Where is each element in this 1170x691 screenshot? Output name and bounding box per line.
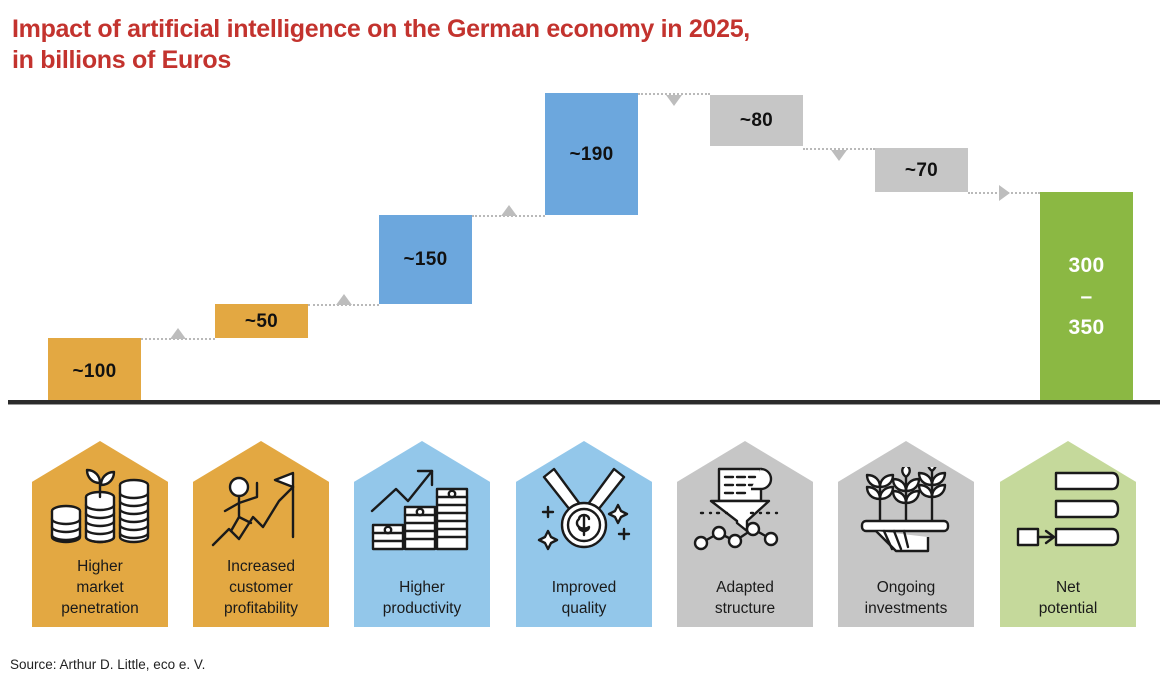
bar-value-line: 300 bbox=[1069, 250, 1105, 281]
medal-dollar-icon bbox=[516, 467, 652, 553]
category-label-line: penetration bbox=[32, 598, 168, 619]
bar-net-potential: 300–350 bbox=[1040, 192, 1133, 400]
category-label-line: potential bbox=[1000, 598, 1136, 619]
person-climbing-flag-icon bbox=[193, 467, 329, 553]
connector-6-right-triangle-icon bbox=[999, 185, 1010, 201]
category-label-line: profitability bbox=[193, 598, 329, 619]
bar-adapted-structure: ~80 bbox=[710, 95, 803, 146]
category-label: Highermarketpenetration bbox=[32, 556, 168, 619]
category-label-line: Ongoing bbox=[838, 577, 974, 598]
bar-value-label: ~70 bbox=[905, 158, 938, 183]
category-label-line: quality bbox=[516, 598, 652, 619]
category-label-line: Net bbox=[1000, 577, 1136, 598]
bar-higher-productivity: ~150 bbox=[379, 215, 472, 304]
category-label-line: Adapted bbox=[677, 577, 813, 598]
category-label: Improvedquality bbox=[516, 577, 652, 619]
category-label: Higherproductivity bbox=[354, 577, 490, 619]
category-improved-quality: Improvedquality bbox=[516, 441, 652, 627]
bar-value-label: ~80 bbox=[740, 108, 773, 133]
category-increased-customer-profitability: Increasedcustomerprofitability bbox=[193, 441, 329, 627]
category-label-line: structure bbox=[677, 598, 813, 619]
category-label: Ongoinginvestments bbox=[838, 577, 974, 619]
category-ongoing-investments: Ongoinginvestments bbox=[838, 441, 974, 627]
page-title: Impact of artificial intelligence on the… bbox=[12, 14, 772, 76]
category-label-line: Increased bbox=[193, 556, 329, 577]
category-label-line: customer bbox=[193, 577, 329, 598]
bar-value-label: ~150 bbox=[404, 247, 448, 272]
page-title-line1: Impact of artificial intelligence on the… bbox=[12, 15, 750, 43]
bar-value-label: ~190 bbox=[570, 142, 614, 167]
category-label: Increasedcustomerprofitability bbox=[193, 556, 329, 619]
category-label-line: market bbox=[32, 577, 168, 598]
category-label-line: Higher bbox=[354, 577, 490, 598]
growth-bars-arrow-icon bbox=[354, 467, 490, 553]
category-legend-row: Highermarketpenetration Increasedcustome… bbox=[0, 441, 1170, 631]
chart-baseline bbox=[8, 400, 1160, 405]
category-label: Netpotential bbox=[1000, 577, 1136, 619]
page-title-line2: in billions of Euros bbox=[12, 45, 772, 76]
bar-ongoing-investments: ~70 bbox=[875, 148, 968, 192]
category-label-line: investments bbox=[838, 598, 974, 619]
category-label-line: productivity bbox=[354, 598, 490, 619]
coin-stacks-sprout-icon bbox=[32, 467, 168, 553]
connector-5-down-triangle-icon bbox=[831, 150, 847, 161]
bar-value-label: ~100 bbox=[73, 359, 117, 384]
bar-value-label: ~50 bbox=[245, 309, 278, 334]
connector-3-up-triangle-icon bbox=[501, 205, 517, 216]
category-higher-market-penetration: Highermarketpenetration bbox=[32, 441, 168, 627]
category-adapted-structure: Adaptedstructure bbox=[677, 441, 813, 627]
connector-1-up-triangle-icon bbox=[170, 328, 186, 339]
category-label: Adaptedstructure bbox=[677, 577, 813, 619]
connector-4-down-triangle-icon bbox=[666, 95, 682, 106]
bar-value-label: 300–350 bbox=[1069, 250, 1105, 343]
bar-improved-quality: ~190 bbox=[545, 93, 638, 215]
category-label-line: Improved bbox=[516, 577, 652, 598]
funnel-document-network-icon bbox=[677, 467, 813, 553]
category-net-potential: Netpotential bbox=[1000, 441, 1136, 627]
category-label-line: Higher bbox=[32, 556, 168, 577]
source-note: Source: Arthur D. Little, eco e. V. bbox=[10, 657, 205, 672]
stacked-shelves-arrow-icon bbox=[1000, 467, 1136, 553]
plants-in-planter-icon bbox=[838, 467, 974, 553]
bar-increased-customer-profitability: ~50 bbox=[215, 304, 308, 338]
bar-value-line: – bbox=[1069, 281, 1105, 312]
waterfall-chart-plot-area: ~100~50~150~190~80~70300–350 bbox=[0, 80, 1170, 410]
connector-2-up-triangle-icon bbox=[336, 294, 352, 305]
bar-value-line: 350 bbox=[1069, 312, 1105, 343]
category-higher-productivity: Higherproductivity bbox=[354, 441, 490, 627]
bar-higher-market-penetration: ~100 bbox=[48, 338, 141, 404]
